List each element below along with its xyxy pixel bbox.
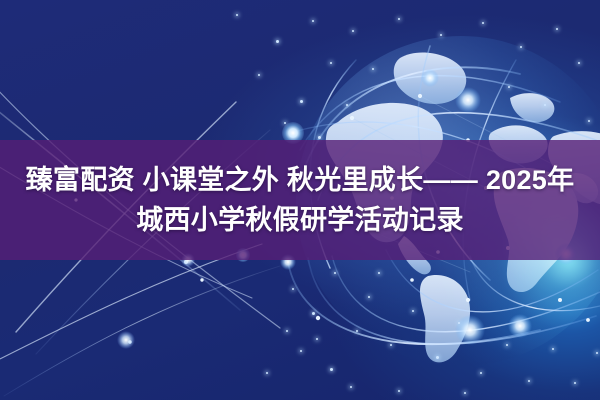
headline-line-2: 城西小学秋假研学活动记录	[136, 202, 464, 238]
banner-image: 臻富配资 小课堂之外 秋光里成长—— 2025年 城西小学秋假研学活动记录	[0, 0, 600, 400]
headline-line-1: 臻富配资 小课堂之外 秋光里成长—— 2025年	[26, 162, 575, 198]
headline-text: 臻富配资 小课堂之外 秋光里成长—— 2025年 城西小学秋假研学活动记录	[0, 140, 600, 260]
